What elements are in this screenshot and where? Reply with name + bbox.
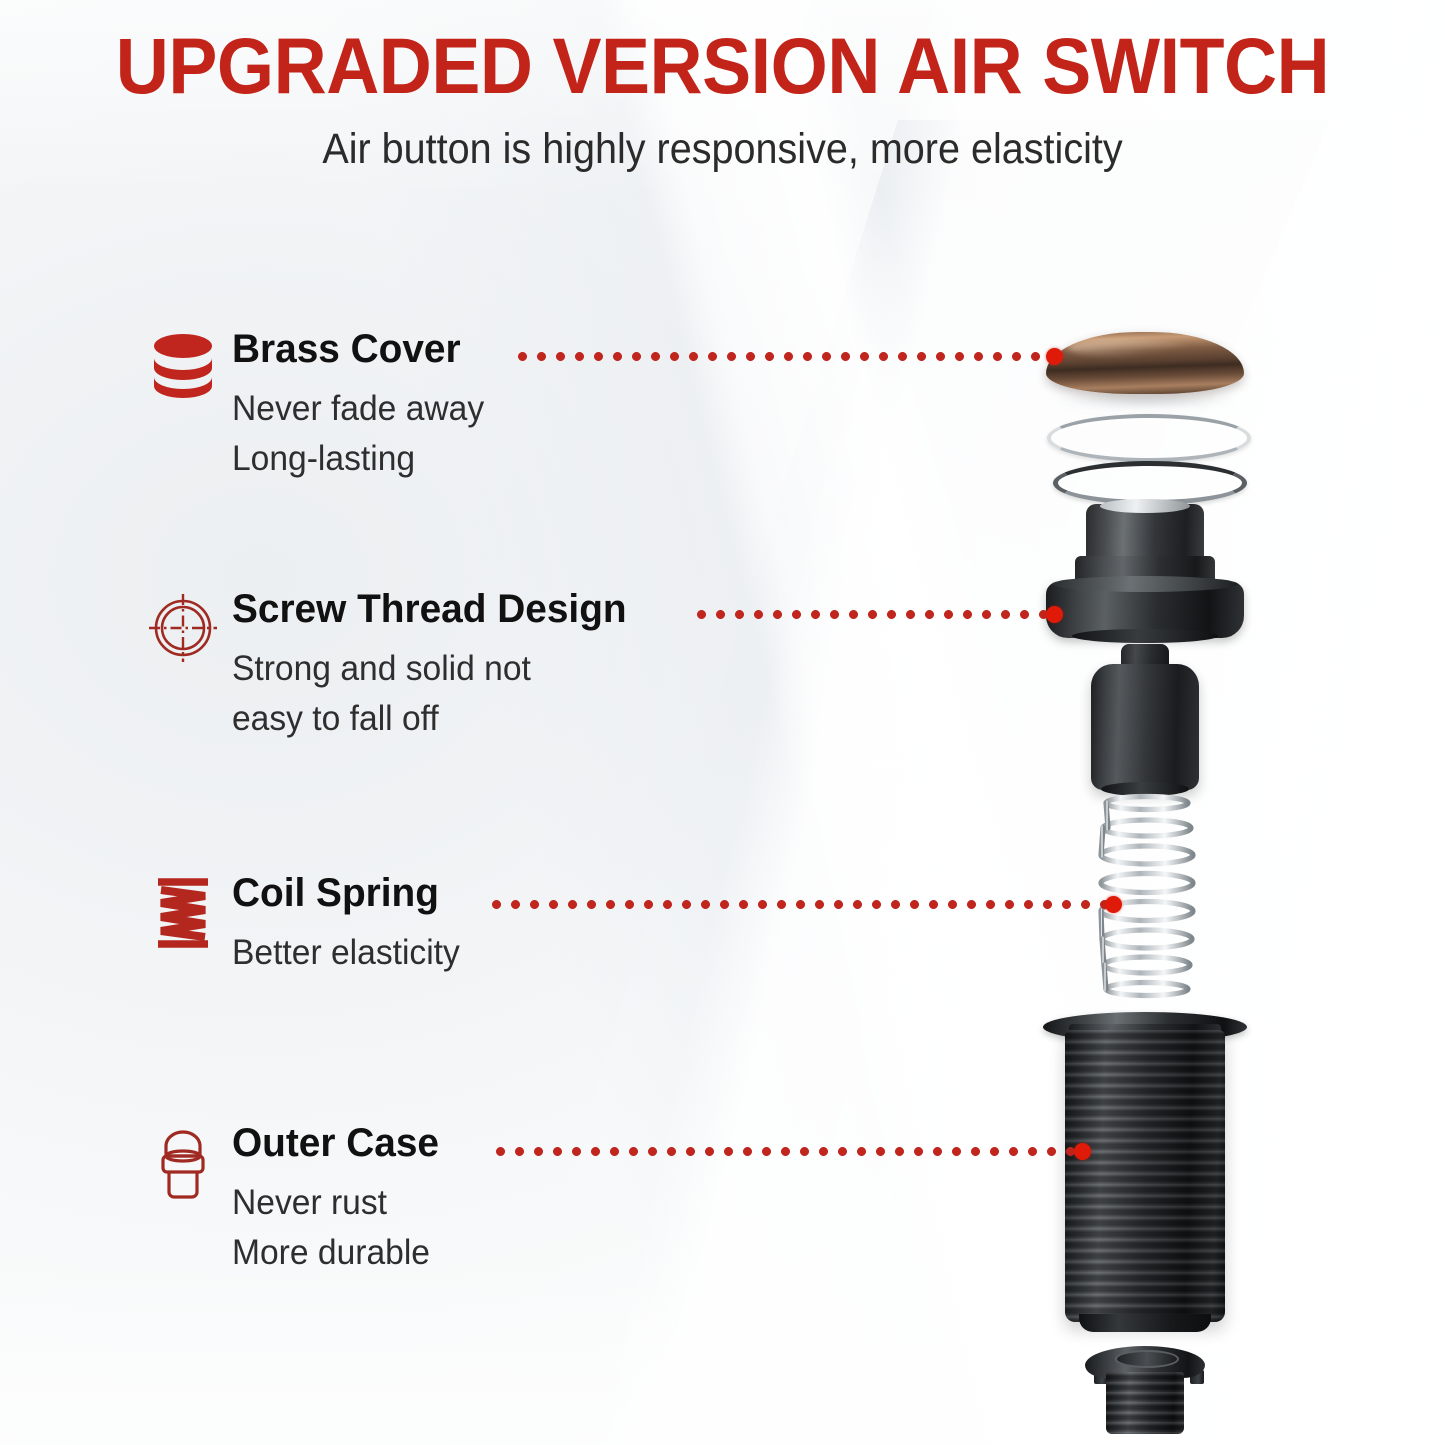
page-subtitle: Air button is highly responsive, more el… [58, 128, 1387, 171]
leader-endpoint-brass-cover [1046, 348, 1063, 365]
feature-outer-case: Outer Case Never rust More durable [140, 1122, 445, 1277]
page-title: UPGRADED VERSION AIR SWITCH [51, 26, 1395, 105]
plunger-cap-body [1091, 664, 1199, 790]
feature-line: Strong and solid not [232, 644, 623, 694]
feature-screw-thread-text: Screw Thread Design Strong and solid not… [226, 588, 639, 743]
leader-line-screw-thread [692, 610, 1050, 619]
feature-line: Better elasticity [232, 928, 460, 978]
steel-ring-upper [1047, 414, 1251, 462]
feature-line: Never fade away [232, 384, 484, 434]
feature-brass-cover-text: Brass Cover Never fade away Long-lasting [226, 328, 495, 483]
feature-outer-case-text: Outer Case Never rust More durable [226, 1122, 445, 1277]
infographic-page: UPGRADED VERSION AIR SWITCH Air button i… [0, 0, 1445, 1445]
feature-title: Outer Case [232, 1122, 439, 1164]
leader-endpoint-screw-thread [1046, 606, 1063, 623]
feature-title: Screw Thread Design [232, 588, 627, 630]
leader-line-outer-case [491, 1147, 1080, 1156]
leader-endpoint-coil-spring [1105, 896, 1122, 913]
outer-case-part [1065, 1030, 1225, 1322]
feature-coil-spring: Coil Spring Better elasticity [140, 872, 469, 978]
feature-line: easy to fall off [232, 694, 623, 744]
feature-title: Brass Cover [232, 328, 487, 370]
feature-line: Never rust [232, 1178, 437, 1228]
leader-line-coil-spring [487, 900, 1110, 909]
outer-case-bottom [1079, 1314, 1211, 1332]
leader-line-brass-cover [513, 352, 1051, 361]
crosshair-target-icon [140, 588, 226, 664]
threaded-nut-flange [1046, 582, 1244, 638]
feature-screw-thread-design: Screw Thread Design Strong and solid not… [140, 588, 639, 743]
stacked-disks-icon [140, 328, 226, 398]
threaded-nut-top [1086, 504, 1204, 562]
feature-line: More durable [232, 1228, 437, 1278]
feature-line: Long-lasting [232, 434, 484, 484]
leader-endpoint-outer-case [1074, 1143, 1091, 1160]
feature-title: Coil Spring [232, 872, 462, 914]
feature-brass-cover: Brass Cover Never fade away Long-lasting [140, 328, 495, 483]
brass-cover-shadow [1046, 392, 1246, 410]
canister-outline-icon [140, 1122, 226, 1202]
feature-coil-spring-text: Coil Spring Better elasticity [226, 872, 469, 978]
bottom-fitting-thread [1106, 1372, 1184, 1434]
coil-spring-icon [140, 872, 226, 950]
